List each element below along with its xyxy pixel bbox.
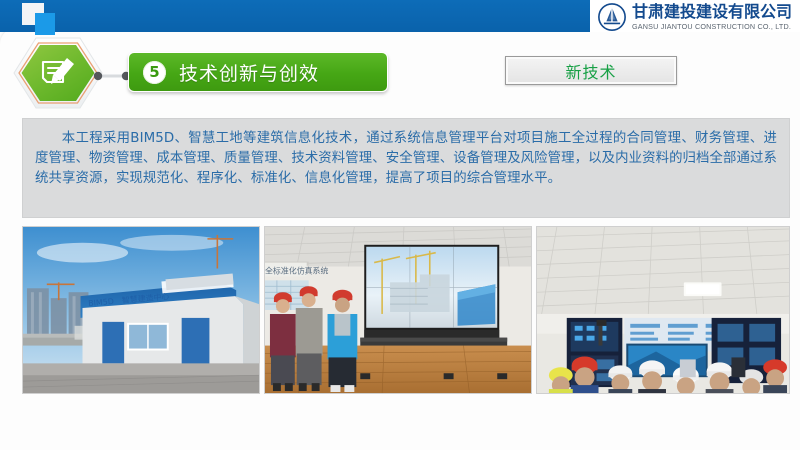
section-title-label: 技术创新与创效 <box>179 59 319 86</box>
bim5d-smart-construction-center-photo: BIM5D 智慧建造中心 <box>22 226 260 394</box>
connector-bar-shape <box>92 68 132 78</box>
section-hexagon-badge <box>12 36 104 110</box>
logo-name-cn: 甘肃建投建设有限公司 <box>632 4 792 20</box>
logo-text-block: 甘肃建投建设有限公司 GANSU JIANTOU CONSTRUCTION CO… <box>632 4 792 30</box>
logo-name-en: GANSU JIANTOU CONSTRUCTION CO., LTD. <box>632 23 792 30</box>
square-blue-shape <box>35 13 55 35</box>
section-number-badge: 5 <box>143 61 166 84</box>
slide-root: 甘肃建投建设有限公司 GANSU JIANTOU CONSTRUCTION CO… <box>0 0 800 450</box>
new-technology-tag-label: 新技术 <box>565 59 616 83</box>
svg-text:全标准化仿真系统: 全标准化仿真系统 <box>265 265 328 275</box>
video-wall-bim-simulation-photo: 全标准化仿真系统 <box>264 226 532 394</box>
body-text-panel: 本工程采用BIM5D、智慧工地等建筑信息化技术，通过系统信息管理平台对项目施工全… <box>22 118 790 218</box>
body-paragraph: 本工程采用BIM5D、智慧工地等建筑信息化技术，通过系统信息管理平台对项目施工全… <box>35 129 777 189</box>
section-title-bar[interactable]: 5 技术创新与创效 <box>128 52 388 92</box>
gansu-jiantou-emblem-icon <box>597 2 627 32</box>
smart-site-exhibition-room-photo <box>536 226 790 394</box>
new-technology-tag[interactable]: 新技术 <box>505 56 677 85</box>
photo-strip: BIM5D 智慧建造中心 <box>22 226 790 394</box>
company-logo: 甘肃建投建设有限公司 GANSU JIANTOU CONSTRUCTION CO… <box>597 2 792 32</box>
